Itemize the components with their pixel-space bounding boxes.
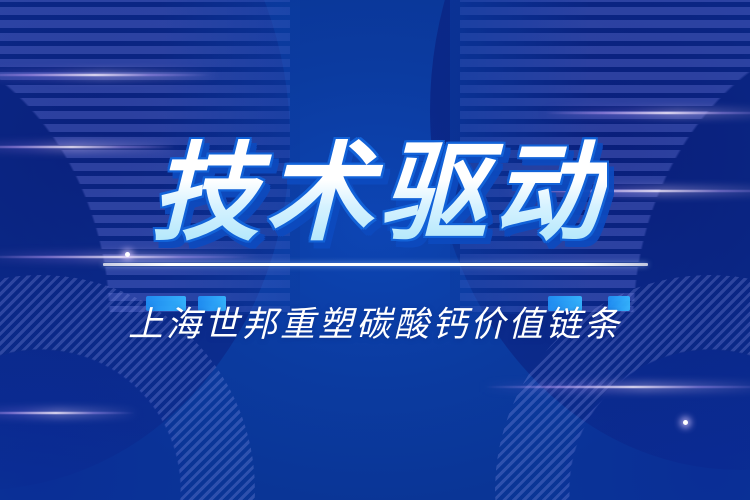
banner-content: 技术驱动 上海世邦重塑碳酸钙价值链条 — [0, 0, 750, 500]
promo-banner: 技术驱动 上海世邦重塑碳酸钙价值链条 — [0, 0, 750, 500]
headline-divider — [103, 263, 648, 266]
banner-headline: 技术驱动 — [143, 139, 607, 247]
banner-subtitle: 上海世邦重塑碳酸钙价值链条 — [128, 296, 622, 347]
